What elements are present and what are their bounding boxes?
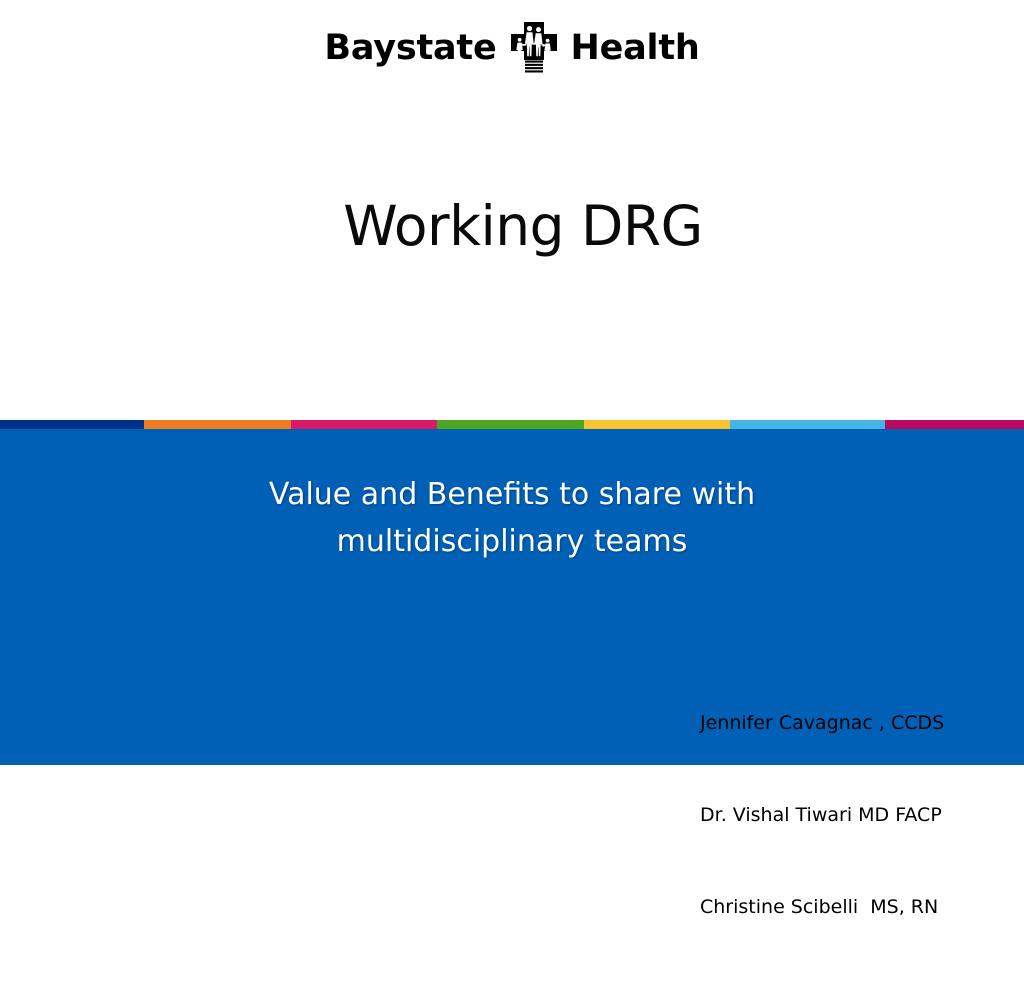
stripe-lightblue xyxy=(730,420,885,429)
stripe-green xyxy=(437,420,584,429)
brand-word-baystate: Baystate xyxy=(324,31,496,66)
presenter-name-2: Dr. Vishal Tiwari MD FACP xyxy=(700,800,1000,831)
baystate-family-cross-icon xyxy=(511,22,557,74)
stripe-magenta xyxy=(291,420,437,429)
title-slide-header-area: Baystate xyxy=(0,0,1024,420)
slide-subtitle: Value and Benefits to share with multidi… xyxy=(112,472,912,565)
subtitle-line-2: multidisciplinary teams xyxy=(112,519,912,566)
title-slide-blue-panel: Value and Benefits to share with multidi… xyxy=(0,420,1024,765)
accent-stripe-band xyxy=(0,420,1024,429)
slide-title: Working DRG xyxy=(0,196,1024,257)
baystate-health-logo: Baystate xyxy=(0,22,1024,74)
presenter-name-1: Jennifer Cavagnac , CCDS xyxy=(700,708,1000,739)
stripe-navy xyxy=(0,420,144,429)
stripe-yellow xyxy=(584,420,730,429)
subtitle-line-1: Value and Benefits to share with xyxy=(112,472,912,519)
stripe-orange xyxy=(144,420,291,429)
stripe-crimson xyxy=(885,420,1024,429)
presenter-name-3: Christine Scibelli MS, RN xyxy=(700,892,1000,923)
presenter-list: Jennifer Cavagnac , CCDS Dr. Vishal Tiwa… xyxy=(700,646,1000,984)
presentation-title-slide: Baystate xyxy=(0,0,1024,768)
brand-word-health: Health xyxy=(571,31,700,66)
